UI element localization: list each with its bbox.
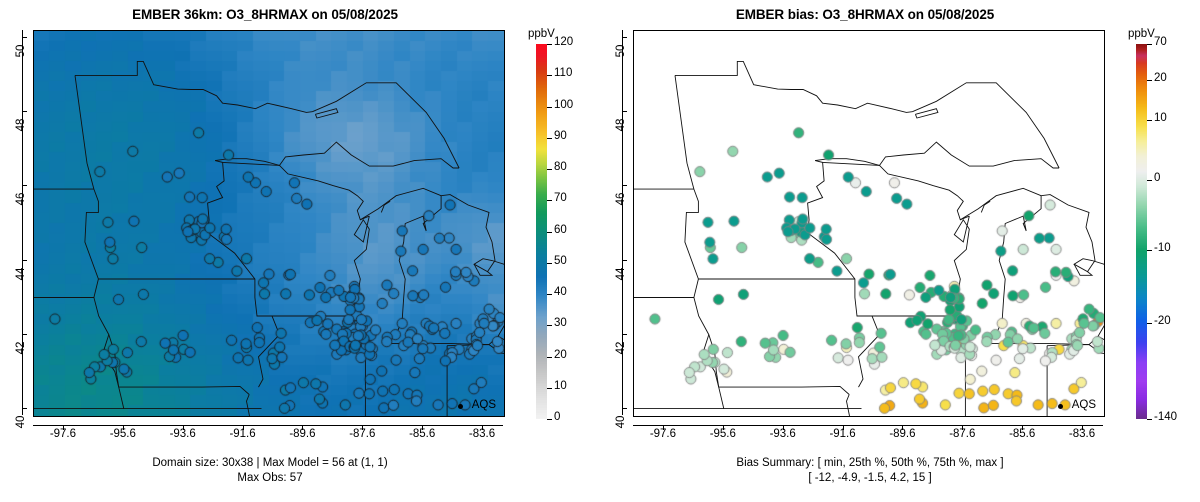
x-axis-label: -91.6 [213,428,273,440]
colorbar-label: 100 [554,99,573,111]
aqs-legend: AQS [472,399,496,411]
colorbar-tick [547,200,552,201]
y-axis-label: 48 [615,109,627,141]
model-map-plot[interactable]: AQS [33,30,505,417]
colorbar-label: 90 [554,130,567,142]
x-axis-label: -95.6 [93,428,153,440]
colorbar-label: 20 [1154,72,1167,84]
colorbar-tick [1147,44,1152,45]
colorbar-label: 110 [554,67,572,79]
bias-title: EMBER bias: O3_8HRMAX on 05/08/2025 [600,7,1130,22]
x-axis-label: -89.6 [272,428,332,440]
colorbar-tick [1147,120,1152,121]
bias-map-plot[interactable]: AQS [633,30,1105,417]
colorbar-tick [547,169,552,170]
colorbar-label: -140 [1154,411,1177,423]
colorbar-label: -10 [1154,242,1171,254]
x-axis-label: -87.6 [932,428,992,440]
model-colorbar-gradient [536,44,547,419]
colorbar-tick [1147,323,1152,324]
colorbar-tick [547,294,552,295]
x-axis-label: -95.6 [693,428,753,440]
x-axis-label: -83.6 [1052,428,1112,440]
colorbar-label: 20 [554,349,567,361]
colorbar-label: 60 [554,224,567,236]
x-axis-label: -93.6 [153,428,213,440]
aqs-dot-icon [1058,404,1063,409]
colorbar-label: 10 [1154,112,1167,124]
colorbar-tick [547,75,552,76]
colorbar-label: -20 [1154,315,1171,327]
colorbar-label: 80 [554,161,567,173]
bias-caption: Bias Summary: [ min, 25th %, 50th %, 75t… [600,456,1140,486]
colorbar-tick [547,44,552,45]
colorbar-label: 70 [1154,36,1167,48]
colorbar-tick [1147,250,1152,251]
colorbar-tick [547,138,552,139]
model-caption-line2: Max Obs: 57 [0,471,540,486]
colorbar-tick [547,388,552,389]
y-axis-label: 40 [615,406,627,438]
page-title: EMBER 36km: O3_8HRMAX on 05/08/2025 [0,7,530,22]
bias-caption-line1: Bias Summary: [ min, 25th %, 50th %, 75t… [600,456,1140,471]
x-axis-label: -93.6 [753,428,813,440]
y-axis-label: 44 [15,258,27,290]
colorbar-label: 70 [554,192,567,204]
y-axis-label: 46 [15,183,27,215]
colorbar-tick [1147,80,1152,81]
y-axis-label: 46 [615,183,627,215]
colorbar-tick [547,325,552,326]
x-axis-label: -83.6 [452,428,512,440]
bias-caption-line2: [ -12, -4.9, -1.5, 4.2, 15 ] [600,471,1140,486]
x-axis-label: -89.6 [872,428,932,440]
model-caption: Domain size: 30x38 | Max Model = 56 at (… [0,456,540,486]
colorbar-tick [547,419,552,420]
y-axis-label: 42 [15,332,27,364]
aqs-bias-markers [634,31,1104,416]
y-axis-label: 50 [615,35,627,67]
colorbar-tick [547,107,552,108]
x-axis-label: -91.6 [813,428,873,440]
colorbar-label: 10 [554,380,567,392]
colorbar-tick [547,357,552,358]
bias-colorbar-gradient [1136,44,1147,419]
colorbar-tick [547,263,552,264]
y-axis-label: 40 [15,406,27,438]
x-axis-line [33,425,503,426]
colorbar-label: 120 [554,36,573,48]
panel-model: EMBER 36km: O3_8HRMAX on 05/08/2025 AQS … [0,0,600,502]
colorbar-tick [547,232,552,233]
aqs-station-markers [34,31,504,416]
x-axis-label: -97.6 [633,428,693,440]
aqs-legend-label-bias: AQS [1072,399,1096,411]
colorbar-label: 0 [554,411,560,423]
model-caption-line1: Domain size: 30x38 | Max Model = 56 at (… [0,456,540,471]
colorbar-tick [1147,419,1152,420]
x-axis-line [633,425,1103,426]
x-axis-label: -85.6 [992,428,1052,440]
x-axis-label: -85.6 [392,428,452,440]
colorbar-label: 40 [554,286,567,298]
y-axis-label: 50 [15,35,27,67]
y-axis-label: 42 [615,332,627,364]
colorbar-tick [1147,180,1152,181]
colorbar-label: 50 [554,255,567,267]
colorbar-label: 0 [1154,172,1160,184]
aqs-dot-icon [458,404,463,409]
x-axis-label: -97.6 [33,428,93,440]
x-axis-label: -87.6 [332,428,392,440]
aqs-legend-label: AQS [472,399,496,411]
model-colorbar-units: ppbV [528,28,555,40]
y-axis-label: 48 [15,109,27,141]
colorbar-label: 30 [554,317,567,329]
aqs-legend-bias: AQS [1072,399,1096,411]
panel-bias: EMBER bias: O3_8HRMAX on 05/08/2025 AQS … [600,0,1200,502]
y-axis-label: 44 [615,258,627,290]
bias-colorbar-units: ppbV [1128,28,1155,40]
